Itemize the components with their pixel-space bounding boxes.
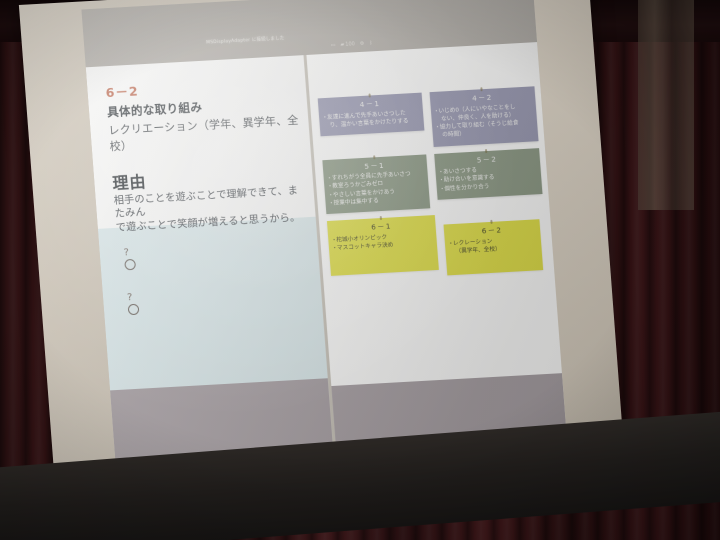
grade-row-5: 5－1 すれちがう全員に先手あいさつ 教室ろうかごみゼロ やさしい言葉をかけあう… [322,148,543,215]
pin-icon [368,93,370,97]
grade-box-6-1[interactable]: 6－1 柁城小オリンピック マスコットキャラ決め [327,215,439,276]
cast-icon[interactable]: ▭ [331,42,336,48]
circle-mark [124,259,136,271]
gear-icon[interactable]: ⚙ [360,41,365,47]
question-mark: ? [123,247,135,259]
grade-box-grid: 4－1 友達に進んで先手あいさつした り、温かい言葉をかけたりする 4 [318,86,549,289]
slide-columns: 6－2 具体的な取り組み レクリエーション（学年、異学年、全校） 理由 相手のこ… [86,42,567,460]
display-adapter-notice: MSDisplayAdapter に接続しました [206,35,285,45]
pin-icon [380,216,382,220]
question-mark-row: ? [127,292,140,316]
slide-left-panel: 6－2 具体的な取り組み レクリエーション（学年、異学年、全校） 理由 相手のこ… [86,55,333,460]
projected-slide: MSDisplayAdapter に接続しました ▭ ▰100 ⚙ ᛒ [81,0,566,460]
grade-box-list: 柁城小オリンピック マスコットキャラ決め [332,232,433,253]
grade-row-4: 4－1 友達に進んで先手あいさつした り、温かい言葉をかけたりする 4 [318,86,539,153]
pin-icon [373,155,375,159]
left-content: 6－2 具体的な取り組み レクリエーション（学年、異学年、全校） 理由 相手のこ… [105,72,308,236]
slide-right-panel: 4－1 友達に進んで先手あいさつした り、温かい言葉をかけたりする 4 [306,42,566,448]
circle-mark [128,304,140,316]
pin-icon [490,220,492,224]
question-mark-row: ? [123,247,136,271]
grade-box-6-2[interactable]: 6－2 レクレーション （異学年、全校） [444,219,544,275]
grade-box-list: 友達に進んで先手あいさつした り、温かい言葉をかけたりする [323,109,420,130]
pin-icon [481,87,483,91]
grade-box-list: すれちがう全員に先手あいさつ 教室ろうかごみゼロ やさしい言葉をかけあう 授業中… [328,171,426,208]
wall-panel [638,0,694,210]
grade-box-4-2[interactable]: 4－2 いじめ0（人にいやなことをし ない、仲良く、人を助ける） 協力して取り組… [429,86,538,146]
grade-box-list: レクレーション （異学年、全校） [449,236,538,256]
question-mark: ? [127,292,139,304]
grade-box-5-2[interactable]: 5－2 あいさつする 助け合いを意識する 個性を分かり合う [434,148,543,200]
battery-icon[interactable]: ▰100 [340,41,355,48]
photo-scene: MSDisplayAdapter に接続しました ▭ ▰100 ⚙ ᛒ [0,0,720,540]
bluetooth-icon[interactable]: ᛒ [369,40,372,46]
grade-box-5-1[interactable]: 5－1 すれちがう全員に先手あいさつ 教室ろうかごみゼロ やさしい言葉をかけあう… [322,154,429,214]
grade-box-list: あいさつする 助け合いを意識する 個性を分かり合う [439,164,538,193]
pin-icon [485,149,487,153]
grade-box-list: いじめ0（人にいやなことをし ない、仲良く、人を助ける） 協力して取り組む（そう… [434,103,534,140]
battery-label: 100 [345,41,355,48]
grade-box-4-1[interactable]: 4－1 友達に進んで先手あいさつした り、温かい言葉をかけたりする [318,93,424,137]
grade-row-6: 6－1 柁城小オリンピック マスコットキャラ決め 6－2 [327,209,548,282]
system-tray: ▭ ▰100 ⚙ ᛒ [331,40,373,48]
